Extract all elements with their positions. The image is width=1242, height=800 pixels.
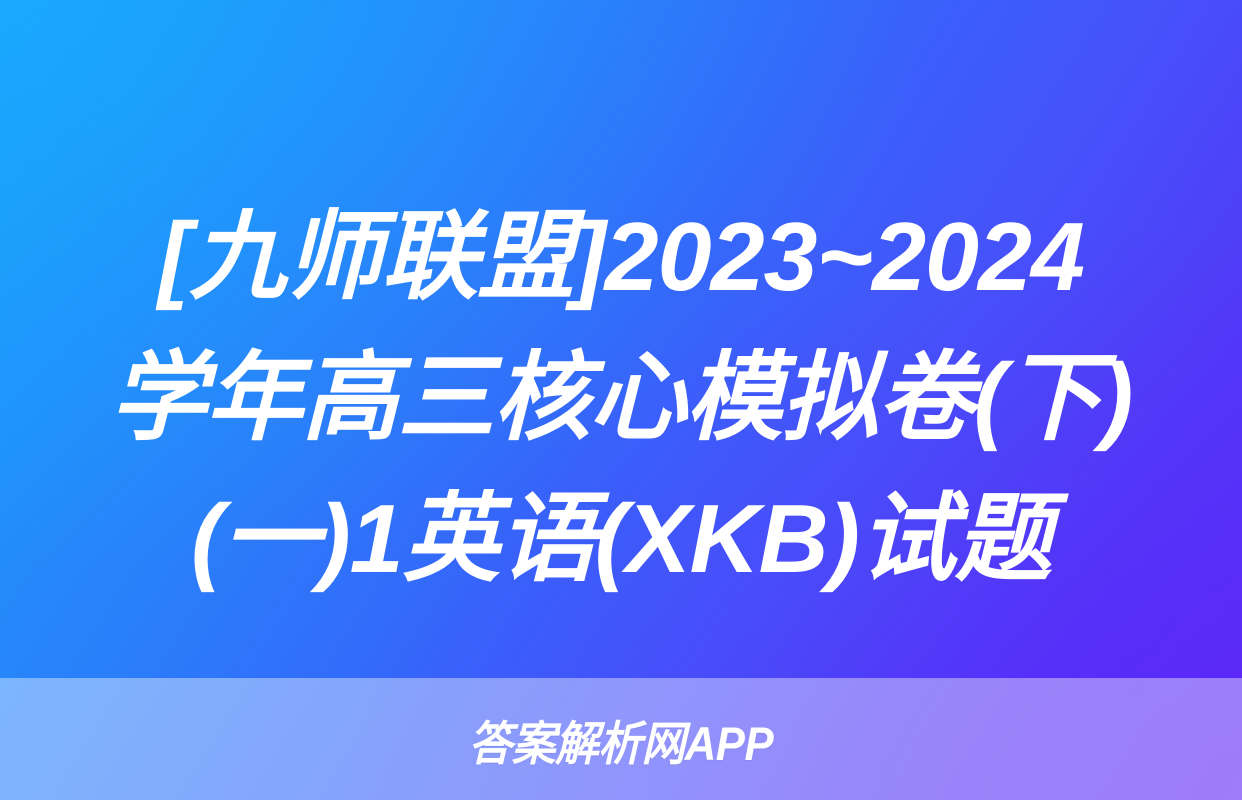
banner-title: [九师联盟]2023~2024 学年高三核心模拟卷(下) (一)1英语(XKB)… [0, 186, 1242, 609]
exam-cover-banner: [九师联盟]2023~2024 学年高三核心模拟卷(下) (一)1英语(XKB)… [0, 0, 1242, 800]
watermark-label: 答案解析网APP [469, 705, 774, 774]
title-line-2: 学年高三核心模拟卷(下) [26, 327, 1216, 468]
title-line-1: [九师联盟]2023~2024 [26, 186, 1216, 327]
watermark-bar: 答案解析网APP [0, 678, 1242, 800]
title-line-3: (一)1英语(XKB)试题 [26, 468, 1216, 609]
